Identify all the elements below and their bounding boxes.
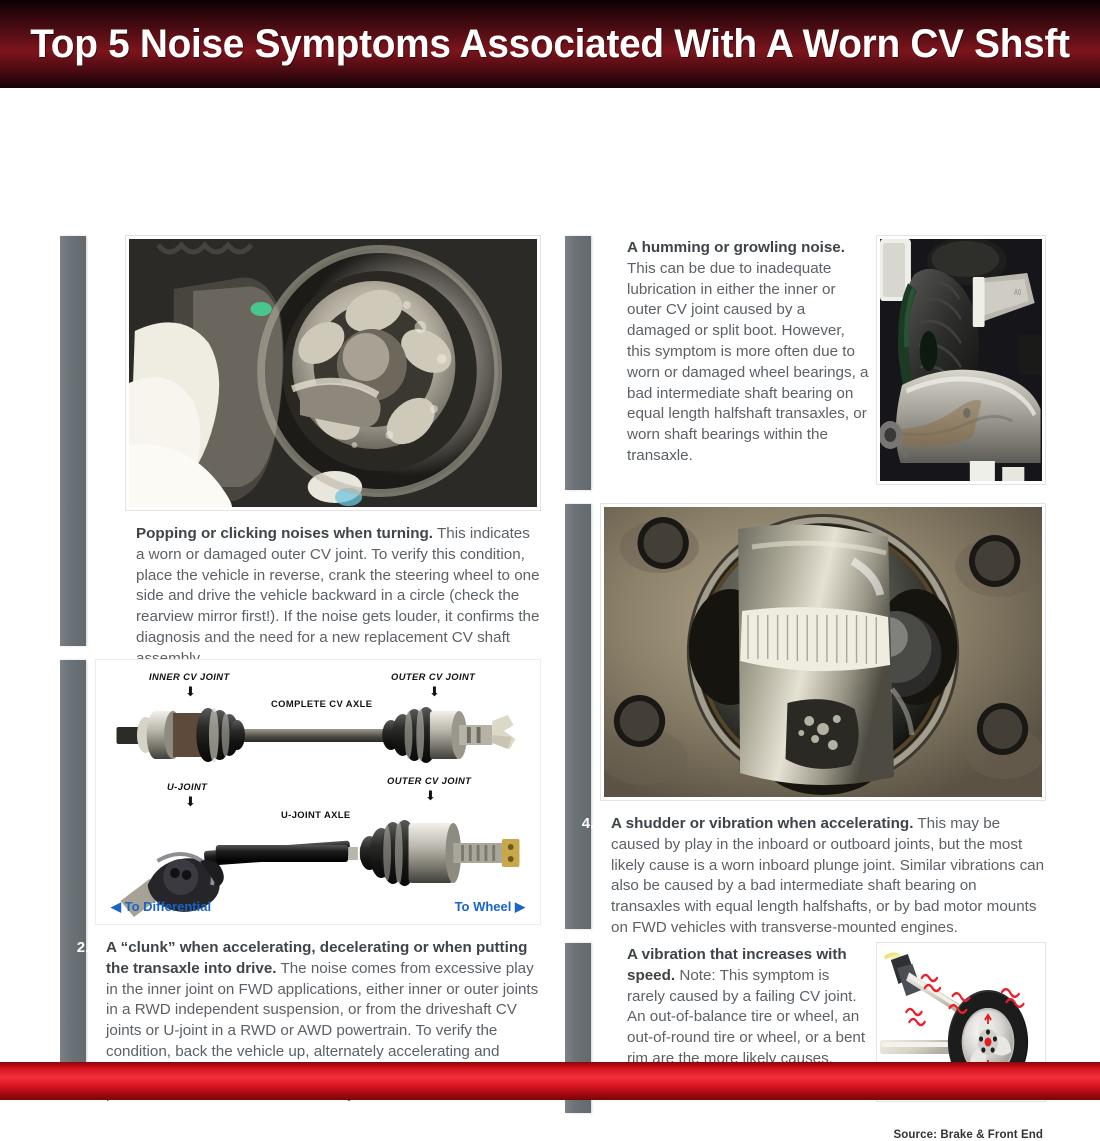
- card-accent-bar: [565, 504, 591, 929]
- photo-cv-boot-underside: A0: [877, 236, 1045, 484]
- header-banner: Top 5 Noise Symptoms Associated With A W…: [0, 0, 1100, 88]
- symptom-5-paragraph: A vibration that increases with speed. N…: [617, 943, 869, 1070]
- card-body: INNER CV JOINT ⬇ COMPLETE CV AXLE OUTER …: [86, 660, 540, 1090]
- symptom-card-3: 3. A humming or growling noise. This can…: [565, 236, 1045, 490]
- arrow-left-icon: ◀: [111, 899, 121, 914]
- symptom-1-lead: Popping or clicking noises when turning.: [136, 525, 433, 542]
- symptom-4-text-row: 4. A shudder or vibration when accelerat…: [601, 812, 1045, 939]
- symptom-4-body: This may be caused by play in the inboar…: [611, 815, 1044, 936]
- symptom-3-body: This can be due to inadequate lubricatio…: [627, 260, 868, 464]
- diagram-arrow-outer-top: ⬇: [429, 685, 440, 698]
- diagram-arrow-inner: ⬇: [185, 685, 196, 698]
- card-body: 3. A humming or growling noise. This can…: [591, 236, 1045, 490]
- diagram-arrow-u-joint: ⬇: [185, 795, 196, 808]
- diagram-label-u-joint-axle: U-JOINT AXLE: [281, 809, 351, 820]
- symptom-card-2: INNER CV JOINT ⬇ COMPLETE CV AXLE OUTER …: [60, 660, 540, 1090]
- symptom-3-paragraph: A humming or growling noise. This can be…: [617, 236, 869, 467]
- footer-banner: [0, 1062, 1100, 1100]
- symptom-number-5: 5.: [591, 943, 617, 965]
- symptom-4-paragraph: A shudder or vibration when accelerating…: [601, 812, 1045, 939]
- symptom-number-3: 3.: [591, 236, 617, 258]
- symptom-1-paragraph: Popping or clicking noises when turning.…: [126, 522, 540, 670]
- photo-illustration: [604, 507, 1042, 797]
- diagram-arrow-outer-mid: ⬇: [425, 789, 436, 802]
- diagram-label-to-differential: ◀ To Differential: [111, 899, 211, 915]
- photo-cv-joint-ball-bearings: [126, 236, 540, 510]
- symptom-1-text-row: 1. Popping or clicking noises when turni…: [126, 522, 540, 670]
- card-accent-bar: [60, 660, 86, 1090]
- symptom-3-lead: A humming or growling noise.: [627, 239, 845, 256]
- arrow-right-icon: ▶: [515, 899, 525, 914]
- right-column: 3. A humming or growling noise. This can…: [565, 236, 1045, 1139]
- infographic-canvas: 1. Popping or clicking noises when turni…: [0, 88, 1100, 1040]
- symptom-5-text-row: 5. A vibration that increases with speed…: [617, 943, 869, 1070]
- diagram-label-to-wheel: To Wheel ▶: [455, 899, 525, 915]
- photo-illustration: [129, 239, 537, 507]
- card-body: 1. Popping or clicking noises when turni…: [86, 236, 540, 646]
- symptom-4-lead: A shudder or vibration when accelerating…: [611, 815, 913, 832]
- card-accent-bar: [565, 236, 591, 490]
- diagram-label-u-joint: U-JOINT: [167, 781, 207, 792]
- source-credit: Source: Brake & Front End: [563, 1129, 1043, 1141]
- symptom-card-1: 1. Popping or clicking noises when turni…: [60, 236, 540, 646]
- page-title: Top 5 Noise Symptoms Associated With A W…: [17, 0, 1084, 88]
- diagram-label-inner-cv-joint: INNER CV JOINT: [149, 671, 230, 682]
- photo-worn-plunge-joint: [601, 504, 1045, 800]
- symptom-number-2: 2.: [70, 936, 96, 958]
- svg-text:A0: A0: [1014, 289, 1021, 297]
- to-wheel-text: To Wheel: [455, 899, 512, 914]
- diagram-label-outer-cv-joint-mid: OUTER CV JOINT: [387, 775, 471, 786]
- symptom-3-text-row: 3. A humming or growling noise. This can…: [617, 236, 869, 467]
- symptom-number-1: 1.: [100, 522, 126, 544]
- diagram-label-complete-cv-axle: COMPLETE CV AXLE: [271, 698, 372, 709]
- to-differential-text: To Differential: [125, 899, 211, 914]
- card-accent-bar: [60, 236, 86, 646]
- symptom-1-body: This indicates a worn or damaged outer C…: [136, 525, 540, 667]
- symptom-card-4: 4. A shudder or vibration when accelerat…: [565, 504, 1045, 929]
- diagram-label-outer-cv-joint-top: OUTER CV JOINT: [391, 671, 475, 682]
- cv-axle-diagram: INNER CV JOINT ⬇ COMPLETE CV AXLE OUTER …: [96, 660, 540, 924]
- photo-illustration: A0: [880, 239, 1042, 481]
- left-column: 1. Popping or clicking noises when turni…: [60, 236, 540, 1104]
- symptom-number-4: 4.: [575, 812, 601, 834]
- card-body: 4. A shudder or vibration when accelerat…: [591, 504, 1045, 929]
